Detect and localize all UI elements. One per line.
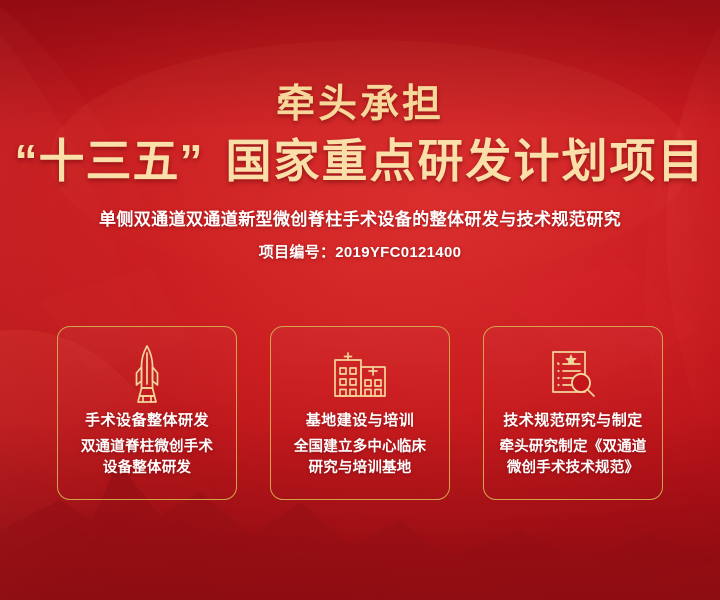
- headline-secondary-rest: 国家重点研发计划项目: [226, 135, 706, 187]
- promo-banner: 牵头承担 “十三五”国家重点研发计划项目 单侧双通道双通道新型微创脊柱手术设备的…: [0, 0, 720, 600]
- card-description: 全国建立多中心临床 研究与培训基地: [276, 437, 444, 479]
- card-title: 手术设备整体研发: [85, 411, 209, 431]
- feature-card[interactable]: 技术规范研究与制定 牵头研究制定《双通道 微创手术技术规范》: [483, 326, 663, 500]
- card-description-line2: 微创手术技术规范》: [507, 460, 639, 476]
- headline-primary: 牵头承担: [0, 82, 720, 128]
- card-description: 双通道脊柱微创手术 设备整体研发: [63, 437, 231, 479]
- feature-card[interactable]: 基地建设与培训 全国建立多中心临床 研究与培训基地: [270, 326, 450, 500]
- headline-block: 牵头承担 “十三五”国家重点研发计划项目 单侧双通道双通道新型微创脊柱手术设备的…: [0, 0, 720, 263]
- rocket-icon: [130, 343, 164, 407]
- card-description-line2: 研究与培训基地: [309, 460, 412, 476]
- hospital-icon: [331, 343, 389, 407]
- card-description-line1: 牵头研究制定《双通道: [500, 439, 647, 455]
- card-title: 基地建设与培训: [306, 411, 415, 431]
- project-subtitle: 单侧双通道双通道新型微创脊柱手术设备的整体研发与技术规范研究: [0, 208, 720, 232]
- card-title: 技术规范研究与制定: [503, 411, 643, 431]
- feature-card[interactable]: 手术设备整体研发 双通道脊柱微创手术 设备整体研发: [57, 326, 237, 500]
- headline-secondary: “十三五”国家重点研发计划项目: [0, 134, 720, 188]
- card-description-line1: 双通道脊柱微创手术: [81, 439, 213, 455]
- card-description: 牵头研究制定《双通道 微创手术技术规范》: [489, 437, 657, 479]
- card-description-line1: 全国建立多中心临床: [294, 439, 426, 455]
- feature-card-list: 手术设备整体研发 双通道脊柱微创手术 设备整体研发: [57, 326, 663, 500]
- headline-secondary-quoted: “十三五”: [15, 135, 204, 187]
- document-search-icon: [547, 343, 599, 407]
- card-description-line2: 设备整体研发: [103, 460, 191, 476]
- project-number: 项目编号：2019YFC0121400: [0, 243, 720, 263]
